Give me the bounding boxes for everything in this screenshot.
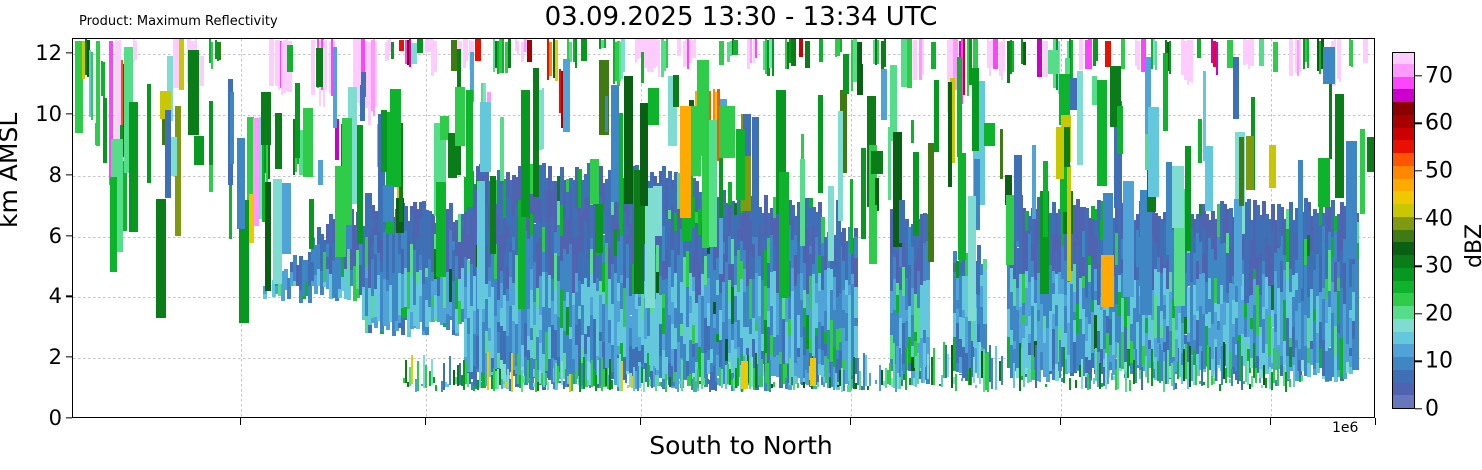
y-tick (66, 357, 72, 358)
colorbar-segment (1393, 267, 1414, 280)
x-tick (640, 418, 641, 425)
colorbar-segment (1393, 178, 1414, 191)
y-tick (66, 417, 72, 418)
colorbar-tick (1415, 218, 1422, 219)
colorbar-tick (1415, 265, 1422, 266)
colorbar-segment (1393, 203, 1414, 216)
x-axis-title: South to North (0, 431, 1482, 460)
colorbar-segment (1393, 318, 1414, 331)
y-tick (66, 235, 72, 236)
x-tick (850, 418, 851, 425)
colorbar-segment (1393, 63, 1414, 76)
x-tick (1270, 418, 1271, 425)
colorbar-segment (1393, 101, 1414, 114)
x-tick (1375, 418, 1376, 425)
colorbar-segment (1393, 369, 1414, 382)
x-tick (425, 418, 426, 425)
colorbar-tick (1415, 123, 1422, 124)
y-tick-label: 10 (16, 102, 62, 126)
colorbar-tick (1415, 361, 1422, 362)
reflectivity-cells (73, 39, 1374, 417)
y-tick-label: 4 (16, 284, 62, 308)
x-tick (1060, 418, 1061, 425)
colorbar-gradient (1392, 52, 1415, 409)
colorbar-segment (1393, 165, 1414, 178)
colorbar-segment (1393, 254, 1414, 267)
colorbar-tick-label: 70 (1425, 63, 1453, 88)
colorbar-segment (1393, 293, 1414, 306)
colorbar-segment (1393, 216, 1414, 229)
colorbar-segment (1393, 152, 1414, 165)
colorbar-title: dBZ (1462, 224, 1482, 268)
colorbar-segment (1393, 344, 1414, 357)
colorbar-segment (1393, 305, 1414, 318)
colorbar-segment (1393, 114, 1414, 127)
x-axis-offset-text: 1e6 (1332, 420, 1358, 436)
colorbar-segment (1393, 76, 1414, 89)
colorbar[interactable] (1392, 52, 1415, 409)
colorbar-tick-label: 60 (1425, 111, 1453, 136)
colorbar-segment (1393, 229, 1414, 242)
colorbar-tick (1415, 170, 1422, 171)
x-tick (240, 418, 241, 425)
colorbar-tick-label: 0 (1425, 397, 1439, 422)
colorbar-tick (1415, 75, 1422, 76)
y-tick (66, 113, 72, 114)
product-annotation: Product: Maximum Reflectivity (79, 14, 278, 29)
colorbar-segment (1393, 356, 1414, 369)
plot-area[interactable] (72, 38, 1375, 418)
colorbar-segment (1393, 280, 1414, 293)
colorbar-tick-label: 30 (1425, 254, 1453, 279)
colorbar-tick (1415, 313, 1422, 314)
y-tick-label: 6 (16, 224, 62, 248)
colorbar-tick-label: 20 (1425, 301, 1453, 326)
y-tick (66, 296, 72, 297)
colorbar-segment (1393, 127, 1414, 140)
y-tick-label: 8 (16, 163, 62, 187)
colorbar-tick (1415, 408, 1422, 409)
colorbar-segment (1393, 331, 1414, 344)
colorbar-tick-label: 40 (1425, 206, 1453, 231)
colorbar-segment (1393, 242, 1414, 255)
y-tick-label: 12 (16, 41, 62, 65)
colorbar-segment (1393, 382, 1414, 395)
colorbar-segment (1393, 89, 1414, 102)
y-tick (66, 174, 72, 175)
radar-cross-section-figure: 03.09.2025 13:30 - 13:34 UTC Product: Ma… (0, 0, 1482, 470)
colorbar-segment (1393, 140, 1414, 153)
colorbar-tick-label: 10 (1425, 349, 1453, 374)
colorbar-segment (1393, 52, 1414, 64)
colorbar-segment (1393, 395, 1414, 408)
y-tick-label: 2 (16, 345, 62, 369)
y-tick-label: 0 (16, 406, 62, 430)
colorbar-segment (1393, 191, 1414, 204)
y-tick (66, 53, 72, 54)
colorbar-tick-label: 50 (1425, 159, 1453, 184)
